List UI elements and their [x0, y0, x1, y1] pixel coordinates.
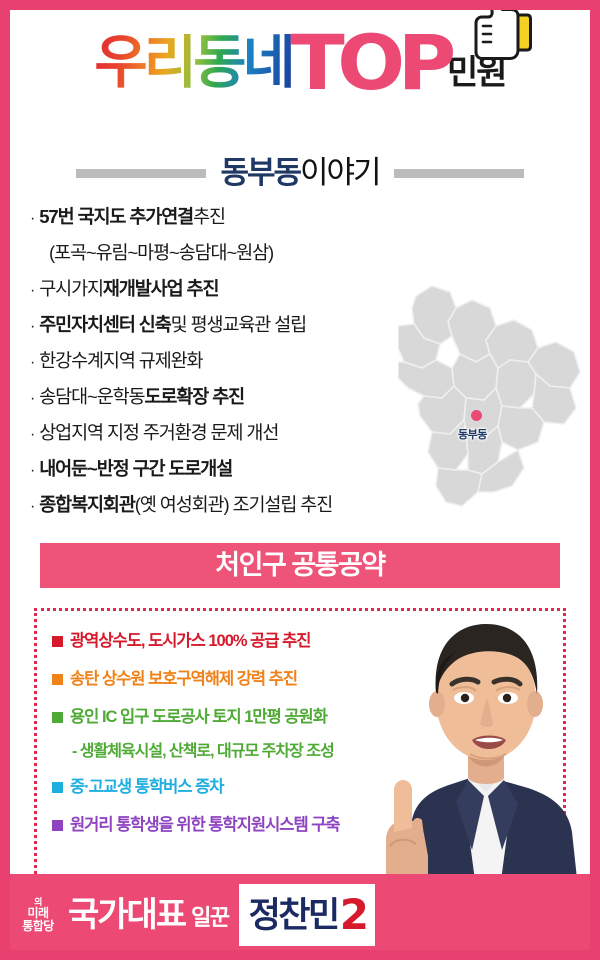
- issue-text-plain: 구시가지: [39, 280, 103, 299]
- issue-text-plain: 상업지역 지정 주거환경 문제 개선: [39, 424, 278, 443]
- bullet-dot: ·: [30, 427, 34, 443]
- pledge-text: 중·고교생 통학버스 증차: [70, 779, 223, 796]
- issue-text-bold: 57번 국지도 추가연결: [39, 208, 193, 227]
- candidate-name-plate: 정찬민 2: [239, 884, 375, 946]
- list-item: · 송담대~운학동 도로확장 추진: [18, 388, 582, 424]
- bullet-dot: ·: [30, 391, 34, 407]
- pledge-text: 원거리 통학생을 위한 통학지원시스템 구축: [70, 817, 340, 834]
- list-item: · 구시가지 재개발사업 추진: [18, 280, 582, 316]
- pledge-text: 송탄 상수원 보호구역해제 강력 추진: [70, 671, 297, 688]
- poster-footer: 의 미래 통합당 국가대표 일꾼 정찬민 2: [0, 874, 600, 960]
- issue-text-plain: 송담대~운학동: [39, 388, 144, 407]
- pledge-text: 광역상수도, 도시가스 100% 공급 추진: [70, 633, 310, 650]
- subtitle-text: 동부동이야기: [220, 156, 379, 190]
- candidate-photo: [372, 588, 596, 888]
- list-item: (포곡~유림~마평~송담대~원삼): [18, 244, 582, 280]
- thumbs-up-icon: [470, 0, 532, 64]
- pledge-banner-title: 처인구 공통공약: [215, 552, 384, 579]
- list-item: · 주민자치센터 신축 및 평생교육관 설립: [18, 316, 582, 352]
- candidate-name: 정찬민: [249, 898, 338, 933]
- bullet-dot: ·: [30, 355, 34, 371]
- square-bullet-icon: [52, 782, 63, 793]
- issue-text-plain: 및 평생교육관 설립: [171, 316, 306, 335]
- list-item: · 종합복지회관 (옛 여성회관) 조기설립 추진: [18, 496, 582, 532]
- campaign-poster: 우리동네 TOP 민원 동부동이야기: [0, 0, 600, 960]
- square-bullet-icon: [52, 820, 63, 831]
- logo-neighborhood-text: 우리동네: [94, 34, 291, 94]
- issue-text-plain: 한강수계지역 규제완화: [39, 352, 202, 371]
- list-item: · 한강수계지역 규제완화: [18, 352, 582, 388]
- pledge-text: 용인 IC 입구 도로공사 토지 1만평 공원화: [70, 709, 327, 726]
- footer-content: 의 미래 통합당 국가대표 일꾼 정찬민 2: [10, 884, 375, 946]
- slogan-sub: 일꾼: [191, 901, 228, 929]
- subtitle-district: 동부동: [220, 155, 300, 190]
- square-bullet-icon: [52, 712, 63, 723]
- issue-text-bold: 재개발사업 추진: [103, 280, 218, 299]
- rule-left: [76, 169, 206, 178]
- square-bullet-icon: [52, 674, 63, 685]
- pledge-subtext: - 생활체육시설, 산책로, 대규모 주차장 조성: [72, 744, 334, 760]
- list-item: · 57번 국지도 추가연결 추진: [18, 208, 582, 244]
- issue-text-bold: 내어둔~반정 구간 도로개설: [39, 460, 232, 479]
- issue-text-plain: (옛 여성회관) 조기설립 추진: [135, 496, 332, 515]
- list-item: · 상업지역 지정 주거환경 문제 개선: [18, 424, 582, 460]
- pledge-banner: 처인구 공통공약: [40, 543, 560, 588]
- list-item: · 내어둔~반정 구간 도로개설: [18, 460, 582, 496]
- rule-right: [394, 169, 524, 178]
- slogan-block: 국가대표 일꾼: [64, 884, 239, 946]
- slogan-main: 국가대표: [68, 898, 185, 932]
- party-logo-line3: 통합당: [22, 920, 54, 933]
- issue-text-bold: 주민자치센터 신축: [39, 316, 170, 335]
- subtitle-bar: 동부동이야기: [10, 156, 590, 190]
- poster-header: 우리동네 TOP 민원: [10, 10, 590, 150]
- issue-text-plain: (포곡~유림~마평~송담대~원삼): [49, 244, 273, 263]
- local-issues-list: · 57번 국지도 추가연결 추진 (포곡~유림~마평~송담대~원삼) · 구시…: [18, 208, 582, 532]
- candidate-portrait-illustration: [372, 588, 596, 888]
- bullet-dot: ·: [30, 283, 34, 299]
- party-logo: 의 미래 통합당: [10, 884, 64, 946]
- issue-text-bold: 도로확장 추진: [144, 388, 244, 407]
- logo-top-text: TOP: [290, 32, 449, 94]
- issue-text-bold: 종합복지회관: [39, 496, 135, 515]
- issue-text-plain: 추진: [193, 208, 225, 227]
- subtitle-suffix: 이야기: [300, 155, 380, 190]
- candidate-number: 2: [340, 894, 367, 936]
- bullet-dot: ·: [30, 211, 34, 227]
- square-bullet-icon: [52, 636, 63, 647]
- bullet-dot: ·: [30, 499, 34, 515]
- bullet-dot: ·: [30, 463, 34, 479]
- bullet-dot: ·: [30, 319, 34, 335]
